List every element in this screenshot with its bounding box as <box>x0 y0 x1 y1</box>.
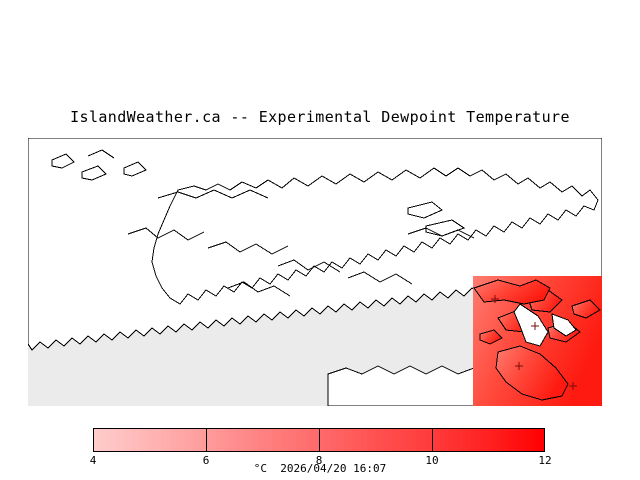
page-title: IslandWeather.ca -- Experimental Dewpoin… <box>0 108 640 126</box>
colorbar-tick-8 <box>319 428 320 452</box>
map-panel[interactable] <box>28 138 602 406</box>
colorbar-tick-10 <box>432 428 433 452</box>
colorbar[interactable] <box>93 428 545 452</box>
colorbar-tick-6 <box>206 428 207 452</box>
dewpoint-data-overlay[interactable] <box>473 276 602 406</box>
map-canvas[interactable] <box>28 138 602 406</box>
colorbar-caption: °C 2026/04/20 16:07 <box>0 462 640 475</box>
